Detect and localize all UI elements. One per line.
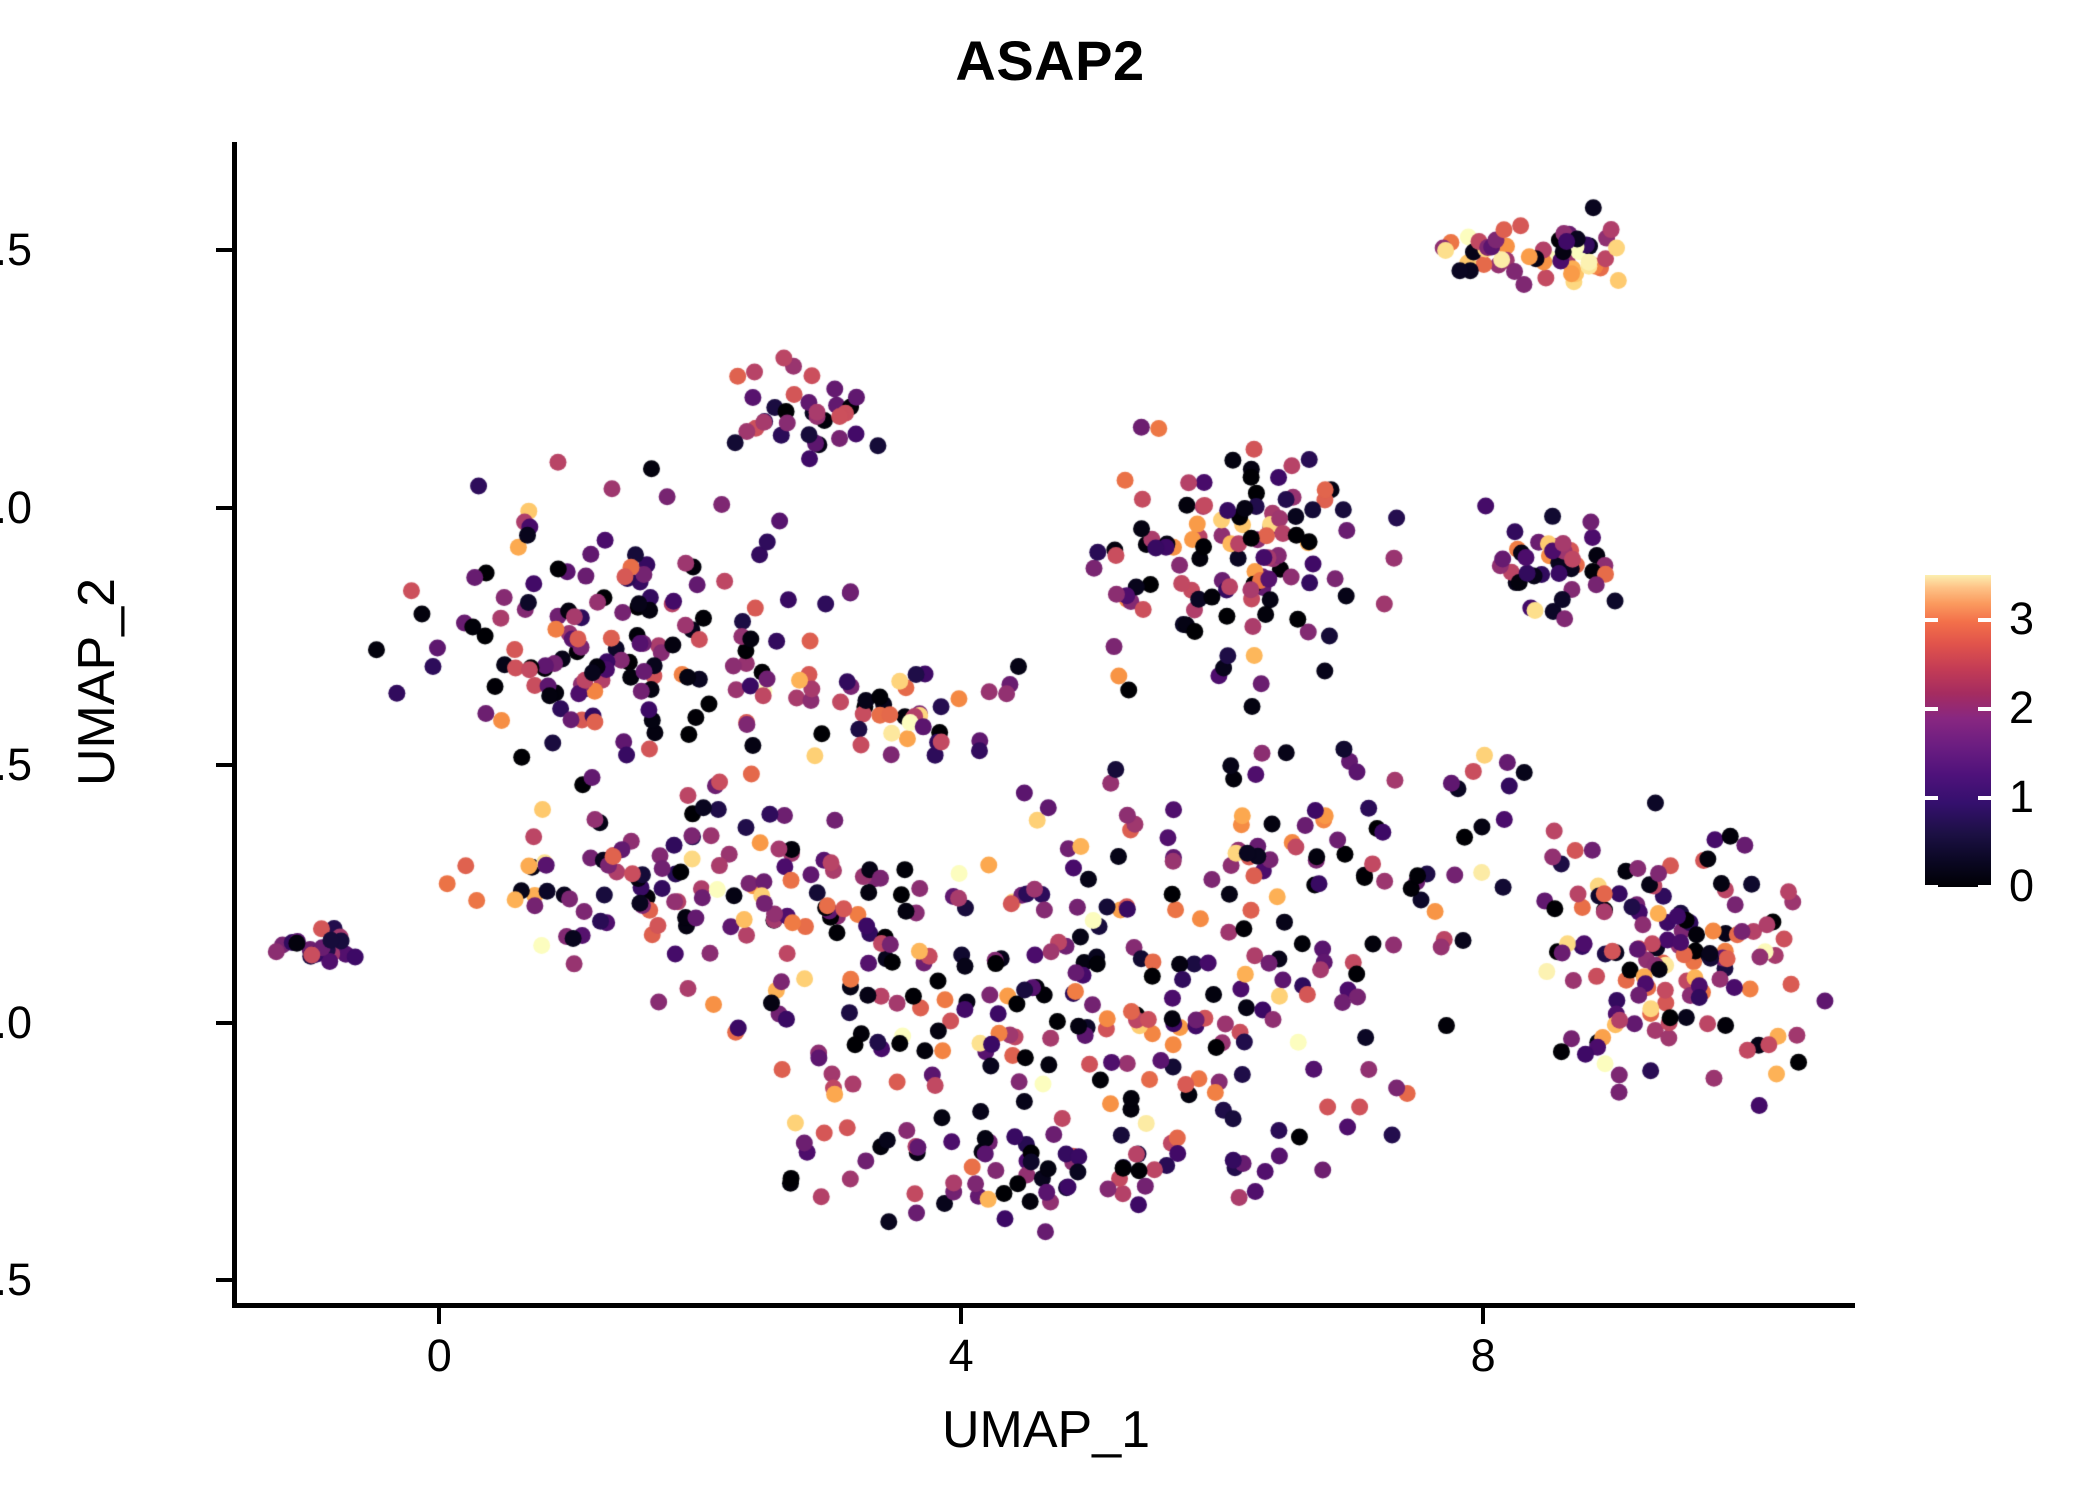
colorbar-label: 0 bbox=[2009, 863, 2034, 908]
plot-title: ASAP2 bbox=[0, 28, 2100, 93]
y-tick-label: -2.5 bbox=[0, 224, 32, 276]
y-tick-mark bbox=[216, 1278, 232, 1282]
colorbar-tick bbox=[1978, 796, 1991, 800]
y-tick-mark bbox=[216, 763, 232, 767]
y-axis-line bbox=[232, 142, 237, 1308]
colorbar-gradient bbox=[1925, 575, 1991, 887]
x-tick-label: 8 bbox=[1403, 1330, 1563, 1382]
colorbar-tick bbox=[1925, 796, 1938, 800]
colorbar-label: 1 bbox=[2009, 774, 2034, 819]
y-tick-label: 2.5 bbox=[0, 739, 32, 791]
x-axis-title: UMAP_1 bbox=[237, 1400, 1855, 1460]
colorbar-tick bbox=[1925, 707, 1938, 711]
y-tick-label: 7.5 bbox=[0, 1254, 32, 1306]
umap-feature-plot: ASAP2 UMAP_1 UMAP_2 3210 7.55.02.50.0-2.… bbox=[0, 0, 2100, 1500]
y-tick-mark bbox=[216, 506, 232, 510]
x-tick-mark bbox=[959, 1308, 963, 1324]
x-tick-label: 0 bbox=[359, 1330, 519, 1382]
colorbar-tick bbox=[1978, 707, 1991, 711]
y-axis-title: UMAP_2 bbox=[67, 282, 127, 1082]
scatter-points-layer bbox=[237, 142, 1855, 1303]
colorbar-tick bbox=[1925, 618, 1938, 622]
x-axis-line bbox=[232, 1303, 1855, 1308]
x-tick-label: 4 bbox=[881, 1330, 1041, 1382]
color-legend: 3210 bbox=[1925, 575, 2085, 895]
y-tick-label: 5.0 bbox=[0, 997, 32, 1049]
x-tick-mark bbox=[1481, 1308, 1485, 1324]
plot-panel bbox=[237, 142, 1855, 1303]
colorbar-tick bbox=[1978, 885, 1991, 889]
y-tick-mark bbox=[216, 248, 232, 252]
colorbar-tick bbox=[1978, 618, 1991, 622]
colorbar-label: 2 bbox=[2009, 685, 2034, 730]
colorbar-label: 3 bbox=[2009, 596, 2034, 641]
x-tick-mark bbox=[437, 1308, 441, 1324]
y-tick-mark bbox=[216, 1021, 232, 1025]
colorbar-tick bbox=[1925, 885, 1938, 889]
y-tick-label: 0.0 bbox=[0, 482, 32, 534]
